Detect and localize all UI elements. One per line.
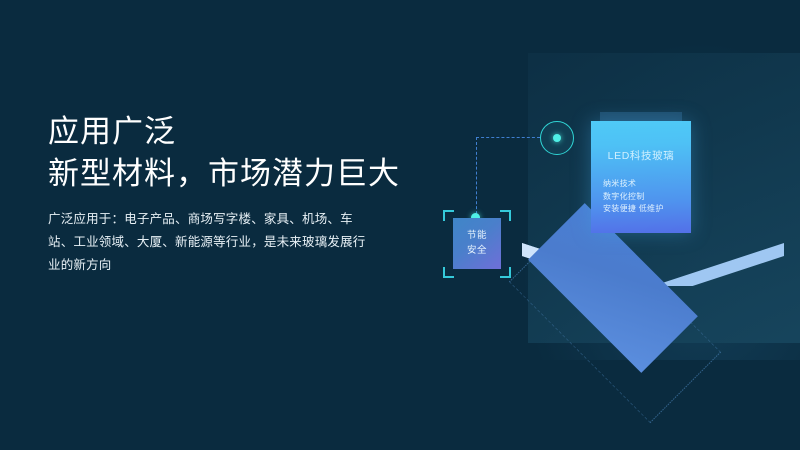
connector-line-vertical (476, 137, 477, 219)
energy-safety-card-line-2: 安全 (453, 243, 501, 258)
energy-safety-card-line-1: 节能 (453, 228, 501, 243)
ring-marker-dot-icon (553, 134, 561, 142)
body-paragraph: 广泛应用于：电子产品、商场写字楼、家具、机场、车站、工业领域、大厦、新能源等行业… (48, 208, 370, 277)
led-glass-feature-item: 安装便捷 低维护 (603, 203, 689, 216)
page-title-line-1: 应用广泛 (48, 112, 448, 152)
card-bracket-bottom-right-icon (500, 267, 511, 278)
led-glass-feature-item: 纳米技术 (603, 178, 689, 191)
led-glass-feature-item: 数字化控制 (603, 191, 689, 204)
card-bracket-top-right-icon (500, 210, 511, 221)
text-block: 应用广泛 新型材料，市场潜力巨大 广泛应用于：电子产品、商场写字楼、家具、机场、… (48, 112, 448, 277)
slide-canvas: 应用广泛 新型材料，市场潜力巨大 广泛应用于：电子产品、商场写字楼、家具、机场、… (0, 0, 800, 450)
energy-safety-card: 节能 安全 (453, 218, 501, 269)
led-glass-panel: LED科技玻璃 纳米技术 数字化控制 安装便捷 低维护 (591, 121, 691, 233)
ring-marker-icon (540, 121, 574, 155)
led-glass-feature-list: 纳米技术 数字化控制 安装便捷 低维护 (603, 178, 689, 216)
connector-line-horizontal (476, 137, 540, 138)
led-glass-panel-title: LED科技玻璃 (591, 148, 691, 163)
energy-safety-card-text: 节能 安全 (453, 228, 501, 258)
page-title-line-2: 新型材料，市场潜力巨大 (48, 154, 448, 194)
